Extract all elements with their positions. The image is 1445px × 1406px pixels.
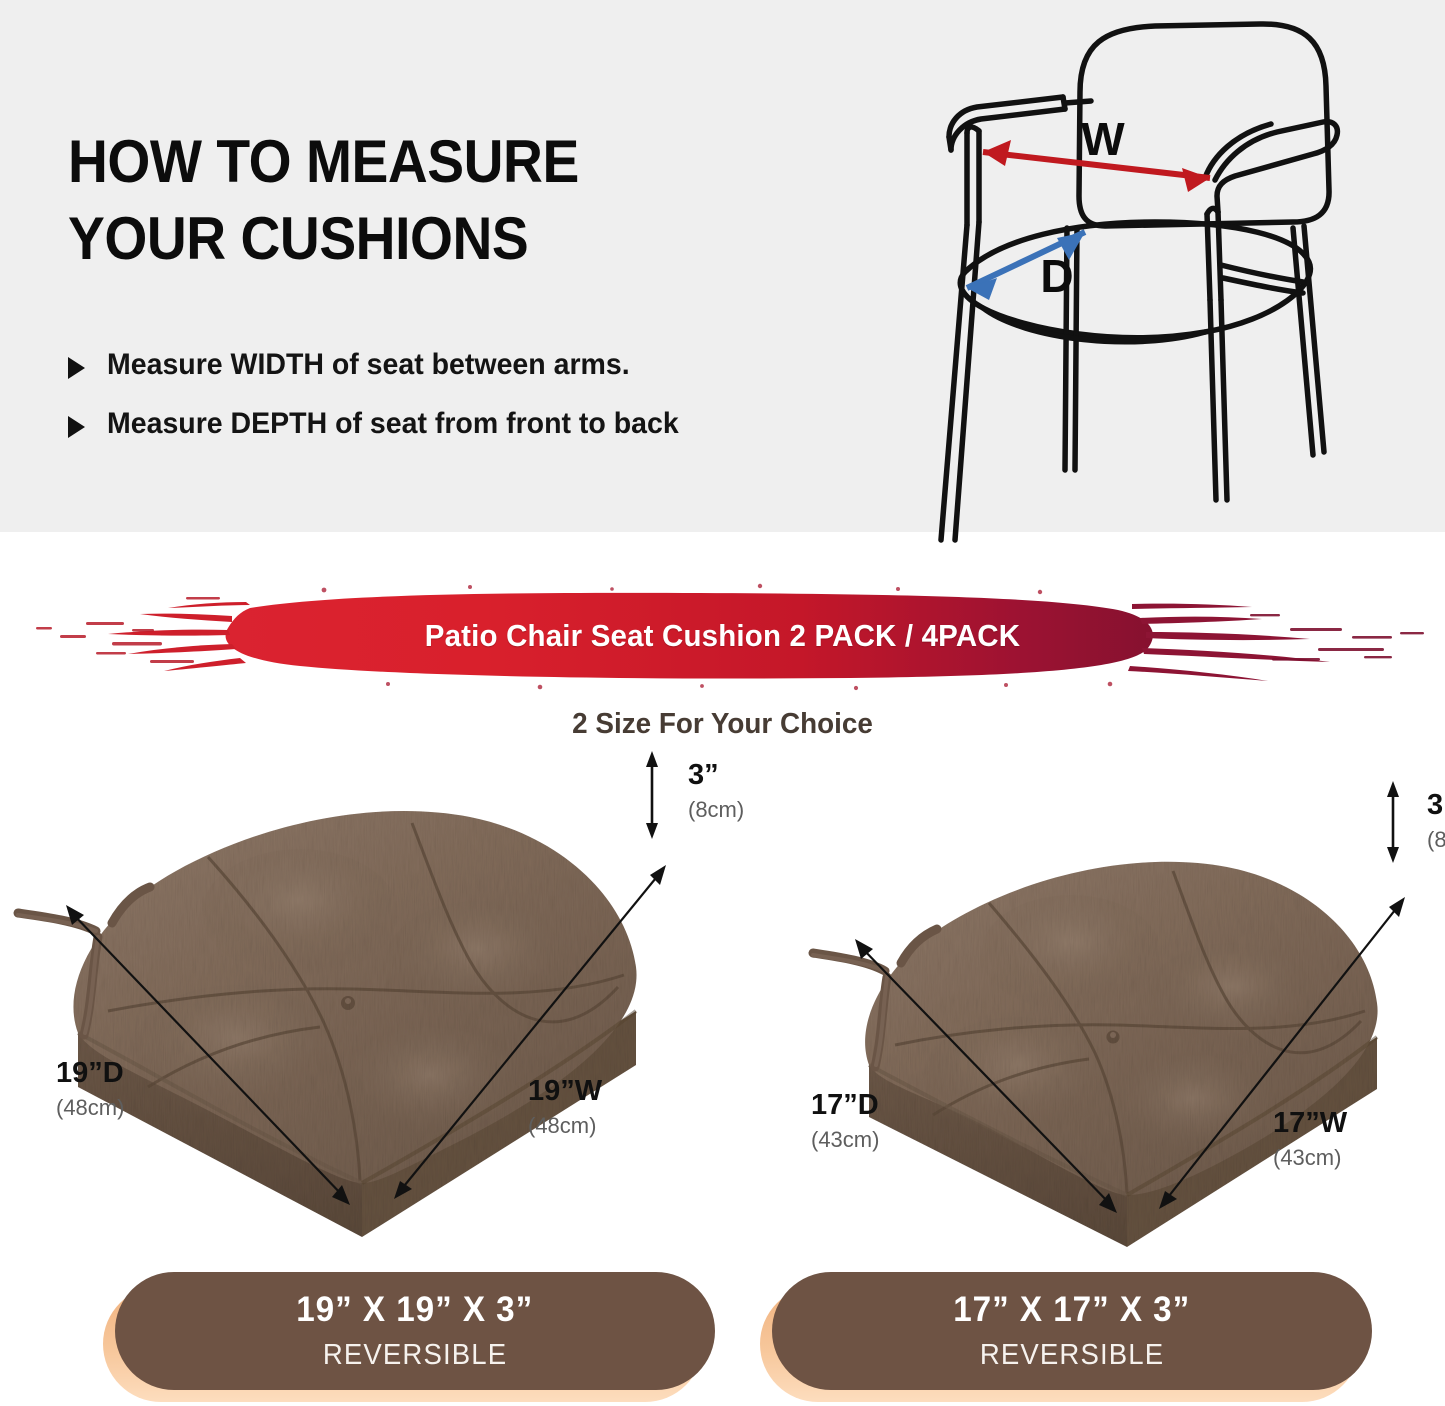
height-dimension-label: 3” (8cm) [688, 759, 744, 823]
triangle-bullet-icon [68, 357, 85, 379]
chair-illustration-icon: W D [905, 0, 1445, 545]
depth-dimension-label: 19”D (48cm) [56, 1057, 124, 1121]
product-panel-19-inch: 3” (8cm) 19”D (48cm) 19”W (48cm) [0, 735, 740, 1265]
instruction-text: Measure DEPTH of seat from front to back [107, 407, 679, 442]
badge-body: 19” X 19” X 3” REVERSIBLE [115, 1272, 715, 1390]
brush-stroke-shape [0, 572, 1445, 700]
size-badge-19-inch: 19” X 19” X 3” REVERSIBLE [103, 1272, 703, 1402]
width-dimension-label: 19”W (48cm) [528, 1075, 602, 1139]
badge-reversible-text: REVERSIBLE [980, 1341, 1164, 1370]
height-dimension-arrow [1387, 781, 1399, 863]
width-dimension-label: 17”W (43cm) [1273, 1107, 1347, 1171]
size-badge-17-inch: 17” X 17” X 3” REVERSIBLE [760, 1272, 1360, 1402]
depth-dimension-label: 17”D (43cm) [811, 1089, 879, 1153]
list-item: Measure WIDTH of seat between arms. [68, 348, 868, 383]
page-title-line-2: YOUR CUSHIONS [68, 201, 730, 278]
product-panel-17-inch: 3” (8cm) 17”D (43cm) 17”W (43cm) [745, 735, 1445, 1265]
width-label: W [1081, 113, 1125, 165]
instruction-list: Measure WIDTH of seat between arms. Meas… [68, 348, 868, 465]
chair-measurement-diagram: W D [905, 0, 1445, 545]
cushion-illustration-17 [745, 735, 1445, 1265]
instruction-text: Measure WIDTH of seat between arms. [107, 348, 630, 383]
badge-size-text: 17” X 17” X 3” [954, 1292, 1191, 1327]
badge-reversible-text: REVERSIBLE [323, 1341, 507, 1370]
page-title: HOW TO MEASURE YOUR CUSHIONS [68, 124, 730, 278]
badge-size-text: 19” X 19” X 3” [297, 1292, 534, 1327]
badge-body: 17” X 17” X 3” REVERSIBLE [772, 1272, 1372, 1390]
list-item: Measure DEPTH of seat from front to back [68, 407, 868, 442]
header-band: HOW TO MEASURE YOUR CUSHIONS Measure WID… [0, 0, 1445, 532]
page-title-line-1: HOW TO MEASURE [68, 124, 730, 201]
cushion-illustration-19 [0, 735, 740, 1265]
height-dimension-label: 3” (8cm) [1427, 789, 1445, 853]
triangle-bullet-icon [68, 416, 85, 438]
height-dimension-arrow [646, 751, 658, 839]
promo-banner: Patio Chair Seat Cushion 2 PACK / 4PACK [0, 572, 1445, 700]
depth-label: D [1040, 250, 1073, 302]
